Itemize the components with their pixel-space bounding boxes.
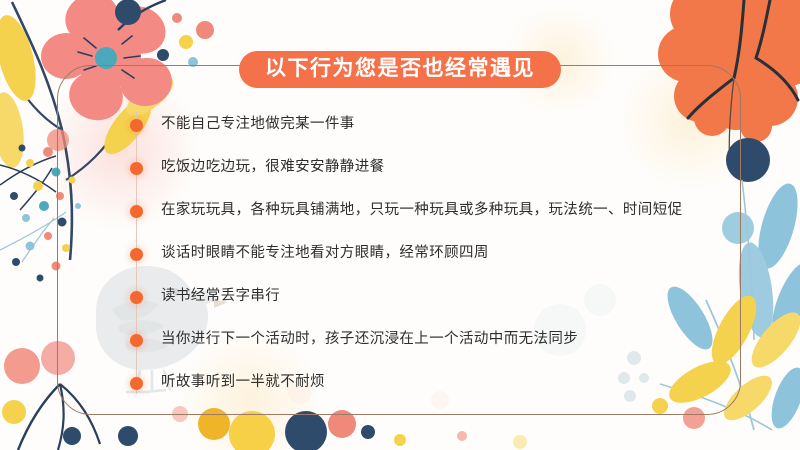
page-title: 以下行为您是否也经常遇见 [265,58,535,79]
checklist: 不能自己专注地做完某一件事 吃饭边吃边玩，很难安安静静进餐 在家玩玩具，各种玩具… [130,104,730,405]
slide-title-banner: 以下行为您是否也经常遇见 [239,51,561,88]
list-item: 听故事听到一半就不耐烦 [130,362,730,404]
slide-canvas: 以下行为您是否也经常遇见 不能自己专注地做完某一件事 吃饭边吃边玩，很难安安静静… [0,0,800,450]
list-item-label: 听故事听到一半就不耐烦 [161,374,325,391]
list-item-label: 当你进行下一个活动时，孩子还沉浸在上一个活动中而无法同步 [161,331,578,348]
list-item-label: 读书经常丢字串行 [161,288,280,305]
list-item-label: 谈话时眼睛不能专注地看对方眼睛，经常环顾四周 [161,245,489,262]
list-item: 在家玩玩具，各种玩具铺满地，只玩一种玩具或多种玩具，玩法统一、时间短促 [130,190,730,232]
list-item: 谈话时眼睛不能专注地看对方眼睛，经常环顾四周 [130,233,730,275]
list-item-label: 吃饭边吃边玩，很难安安静静进餐 [161,159,385,176]
scattered-dots-topleft [115,0,214,67]
bullet-dot-icon [130,205,143,218]
bullet-dot-icon [130,162,143,175]
bullet-dot-icon [130,248,143,261]
bullet-dot-icon [130,334,143,347]
bullet-dot-icon [130,291,143,304]
list-item: 当你进行下一个活动时，孩子还沉浸在上一个活动中而无法同步 [130,319,730,361]
list-item: 读书经常丢字串行 [130,276,730,318]
bullet-dot-icon [130,119,143,132]
list-item: 不能自己专注地做完某一件事 [130,104,730,146]
list-item-label: 不能自己专注地做完某一件事 [161,116,355,133]
list-item-label: 在家玩玩具，各种玩具铺满地，只玩一种玩具或多种玩具，玩法统一、时间短促 [161,202,683,219]
bullet-dot-icon [130,377,143,390]
list-item: 吃饭边吃边玩，很难安安静静进餐 [130,147,730,189]
